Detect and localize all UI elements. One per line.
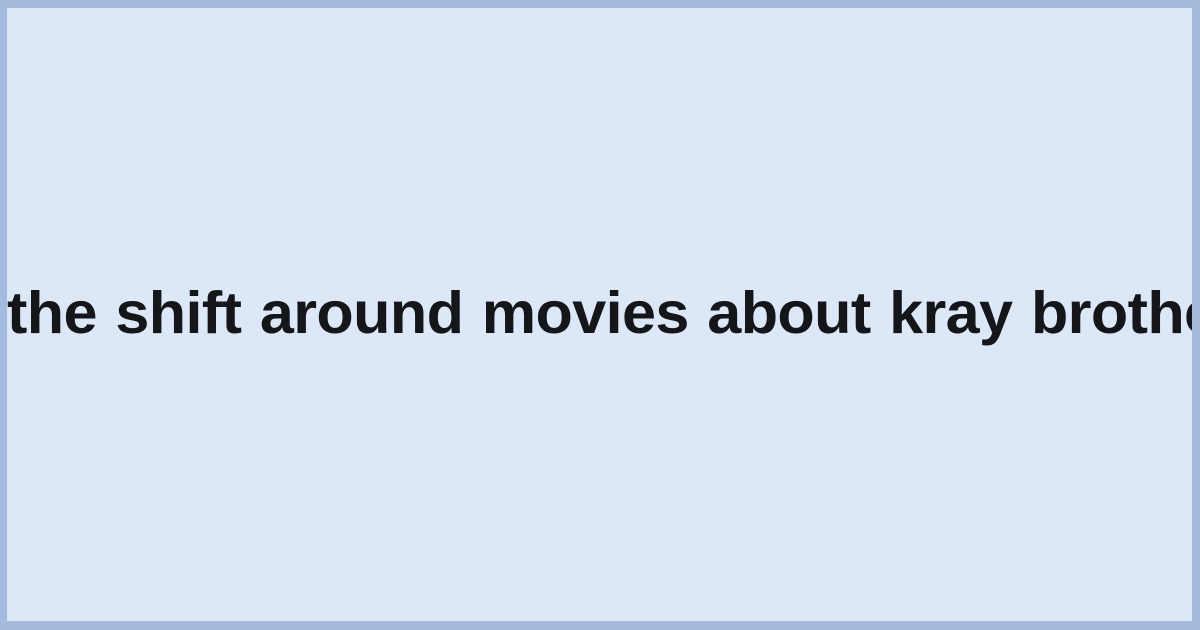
- page-title: the shift around movies about kray broth…: [7, 282, 1192, 345]
- og-image-card: the shift around movies about kray broth…: [0, 0, 1200, 630]
- card-canvas: the shift around movies about kray broth…: [7, 8, 1192, 621]
